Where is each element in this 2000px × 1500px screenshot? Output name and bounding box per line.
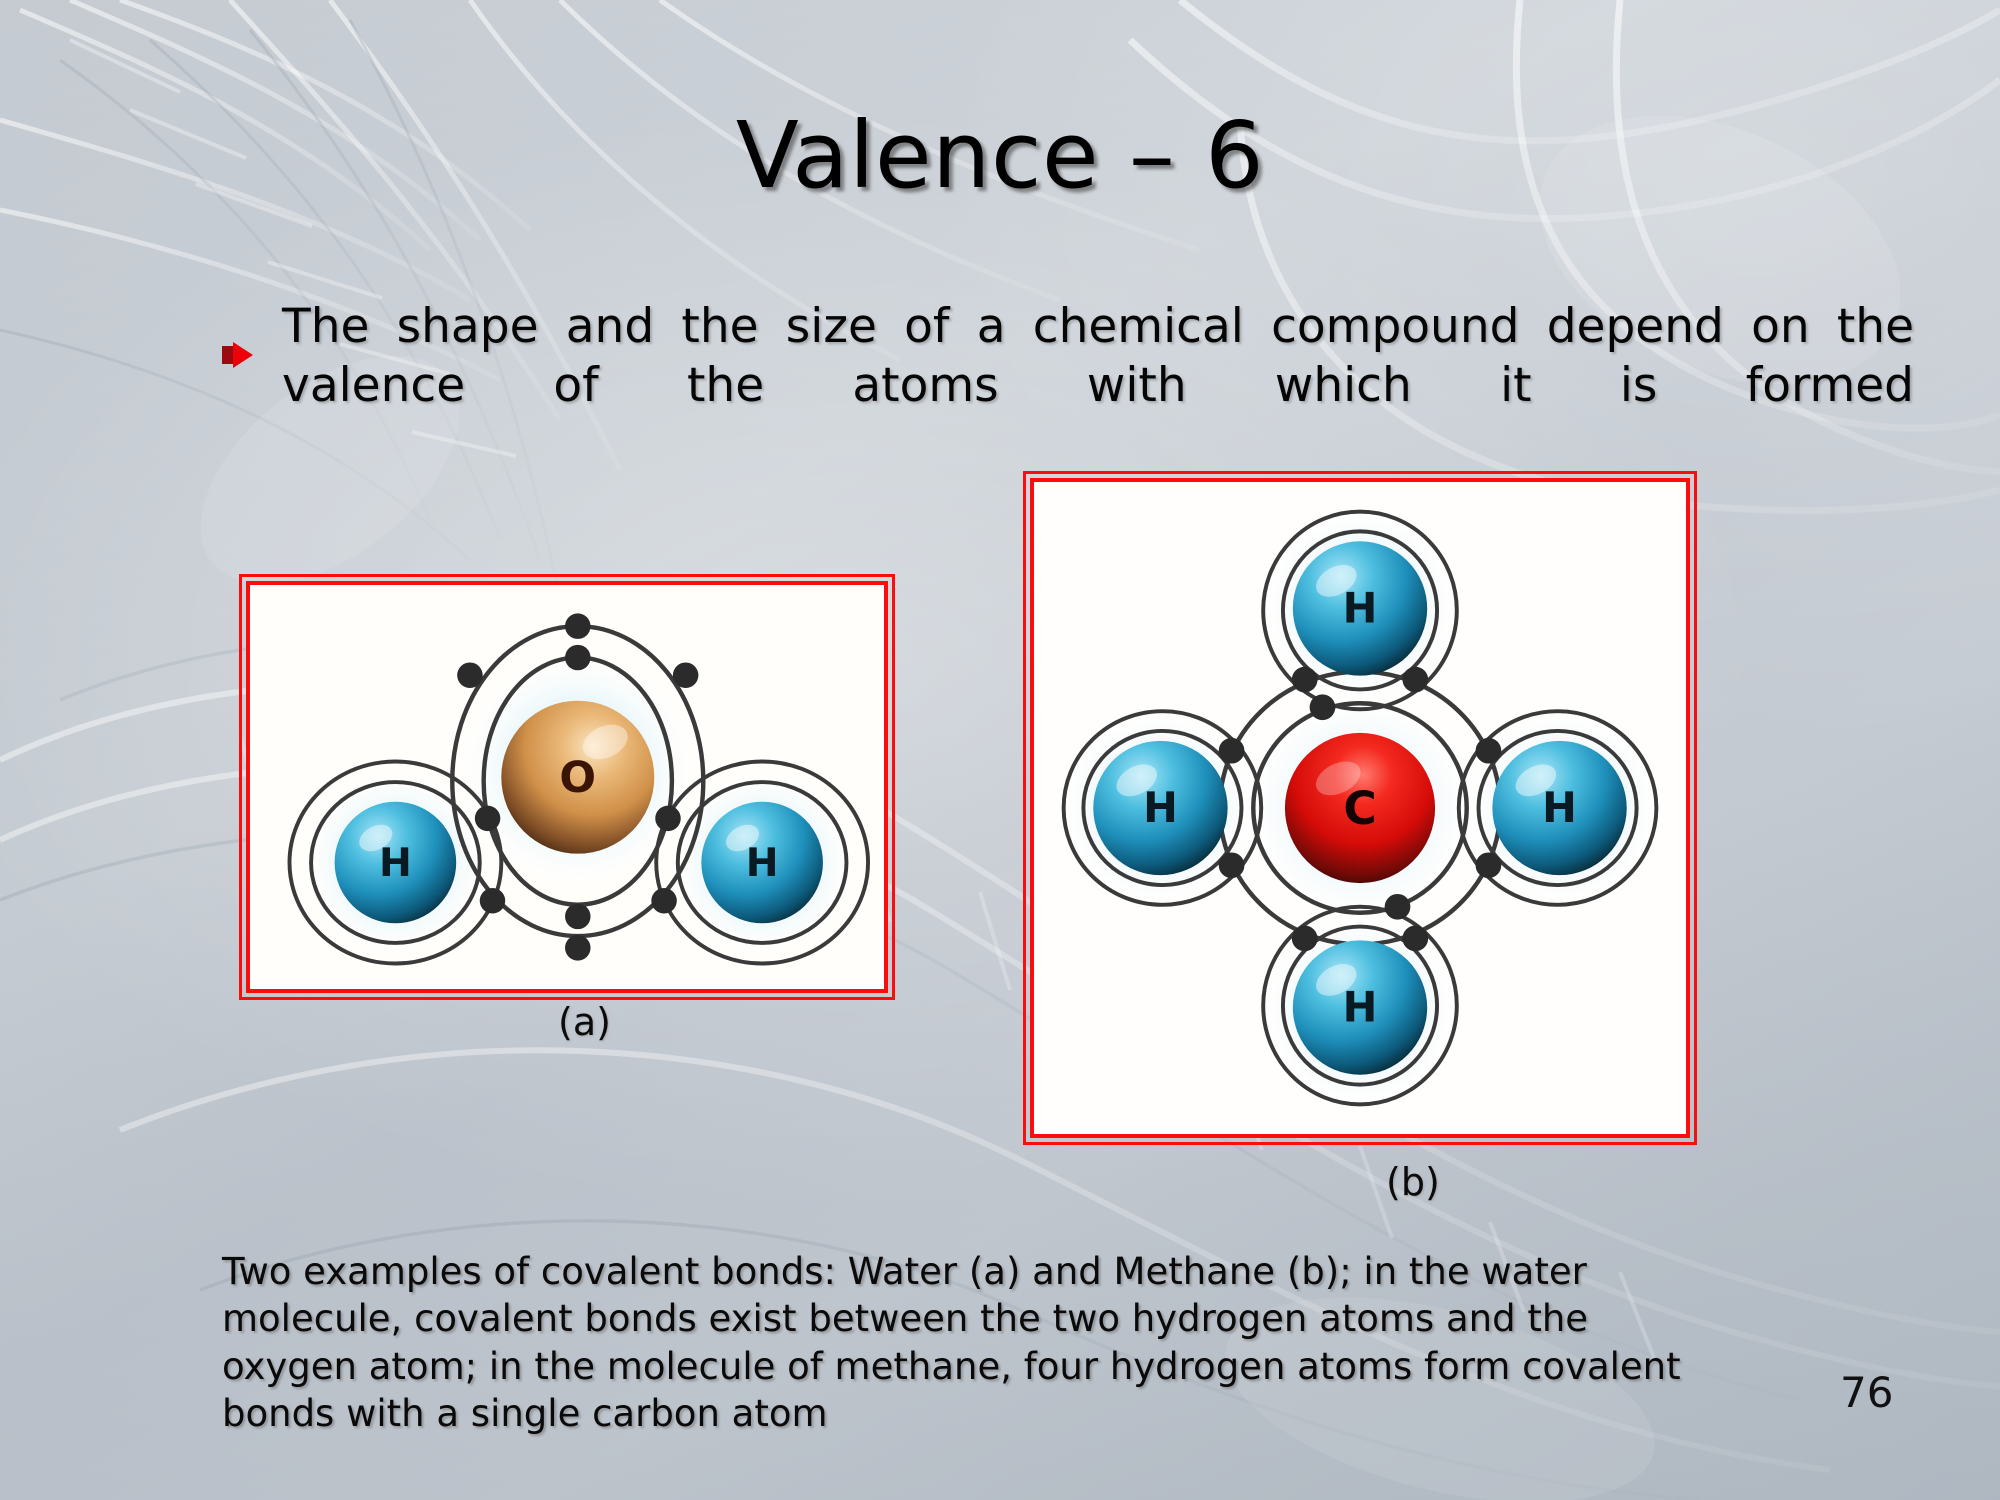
red-arrow-bullet-icon	[222, 340, 254, 370]
svg-text:O: O	[559, 753, 596, 803]
figure-water-molecule: H H O	[246, 581, 888, 993]
svg-text:H: H	[746, 841, 779, 886]
page-number: 76	[1840, 1368, 1893, 1417]
bullet-text: The shape and the size of a chemical com…	[282, 298, 1914, 474]
svg-text:H: H	[1143, 783, 1178, 832]
bullet-block: The shape and the size of a chemical com…	[214, 298, 1914, 474]
figure-methane-molecule: H H H H C	[1030, 478, 1690, 1138]
page-title: Valence – 6	[0, 108, 2000, 204]
svg-text:H: H	[1343, 982, 1378, 1031]
bottom-caption-line-4: bonds with a single carbon atom	[222, 1390, 1779, 1437]
bottom-caption-line-2: molecule, covalent bonds exist between t…	[222, 1295, 1779, 1342]
svg-text:C: C	[1343, 782, 1376, 835]
figure-caption-b: (b)	[1386, 1160, 1440, 1204]
svg-text:H: H	[379, 841, 412, 886]
figure-caption-a: (a)	[558, 1000, 611, 1044]
slide-canvas: Valence – 6 The shape and the size of a …	[0, 0, 2000, 1500]
bottom-caption: Two examples of covalent bonds: Water (a…	[222, 1248, 1779, 1437]
svg-text:H: H	[1343, 583, 1378, 632]
svg-text:H: H	[1542, 783, 1577, 832]
bottom-caption-line-3: oxygen atom; in the molecule of methane,…	[222, 1343, 1779, 1390]
bottom-caption-line-1: Two examples of covalent bonds: Water (a…	[222, 1248, 1779, 1295]
